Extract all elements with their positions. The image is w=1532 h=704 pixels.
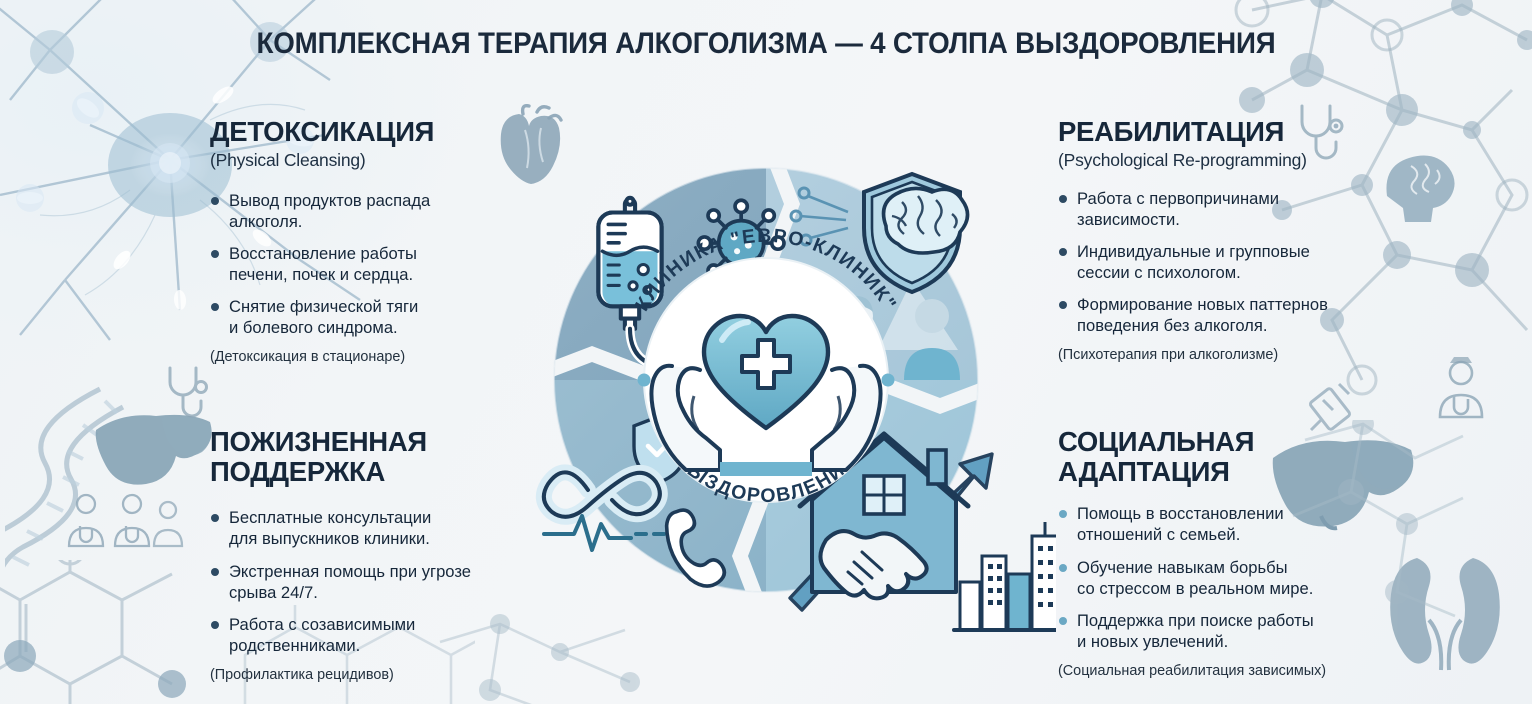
four-pillar-wheel-diagram: КЛИНИКА "ЕВРО-КЛИНИК" ВЫЗДОРОВЛЕНИЕ: [476, 84, 1056, 680]
block-detox-note: (Детоксикация в стационаре): [210, 349, 510, 365]
list-item: Помощь в восстановлении отношений с семь…: [1058, 503, 1398, 545]
block-social-adaptation: СОЦИАЛЬНАЯ АДАПТАЦИЯ Помощь в восстановл…: [1058, 427, 1398, 679]
block-rehabilitation-list: Работа с первопричинами зависимости. Инд…: [1058, 188, 1398, 336]
block-lifelong-support: ПОЖИЗНЕННАЯ ПОДДЕРЖКА Бесплатные консуль…: [210, 427, 530, 683]
block-detox: ДЕТОКСИКАЦИЯ (Physical Cleansing) Вывод …: [210, 118, 510, 365]
block-rehabilitation-heading: РЕАБИЛИТАЦИЯ: [1058, 118, 1398, 147]
list-item: Восстановление работы печени, почек и се…: [210, 243, 510, 285]
nurse-figure-icon: [60, 488, 185, 550]
list-item: Снятие физической тяги и болевого синдро…: [210, 296, 510, 338]
block-lifelong-support-heading: ПОЖИЗНЕННАЯ ПОДДЕРЖКА: [210, 427, 530, 486]
dna-helix-icon: [5, 385, 135, 595]
block-detox-list: Вывод продуктов распада алкоголя. Восста…: [210, 190, 510, 338]
block-lifelong-support-list: Бесплатные консультации для выпускников …: [210, 507, 530, 655]
list-item: Работа с первопричинами зависимости.: [1058, 188, 1398, 230]
block-social-adaptation-heading: СОЦИАЛЬНАЯ АДАПТАЦИЯ: [1058, 427, 1398, 486]
block-social-adaptation-list: Помощь в восстановлении отношений с семь…: [1058, 503, 1398, 651]
list-item: Работа с созависимыми родственниками.: [210, 614, 530, 656]
liver-icon: [92, 408, 212, 490]
list-item: Обучение навыкам борьбы со стрессом в ре…: [1058, 557, 1398, 599]
list-item: Экстренная помощь при угрозе срыва 24/7.: [210, 561, 530, 603]
block-rehabilitation-note: (Психотерапия при алкоголизме): [1058, 347, 1398, 363]
infographic-poster: КОМПЛЕКСНАЯ ТЕРАПИЯ АЛКОГОЛИЗМА — 4 СТОЛ…: [0, 0, 1532, 704]
block-rehabilitation: РЕАБИЛИТАЦИЯ (Psychological Re-programmi…: [1058, 118, 1398, 363]
hexagon-chemical-structure: [0, 560, 240, 704]
page-title: КОМПЛЕКСНАЯ ТЕРАПИЯ АЛКОГОЛИЗМА — 4 СТОЛ…: [46, 27, 1486, 61]
stethoscope-icon: [160, 363, 216, 429]
block-detox-heading: ДЕТОКСИКАЦИЯ: [210, 118, 510, 147]
list-item: Формирование новых паттернов поведения б…: [1058, 294, 1398, 336]
block-detox-subtitle: (Physical Cleansing): [210, 150, 510, 171]
doctor-figure-icon: [1430, 355, 1492, 421]
list-item: Поддержка при поиске работы и новых увле…: [1058, 610, 1398, 652]
block-lifelong-support-note: (Профилактика рецидивов): [210, 667, 530, 683]
list-item: Бесплатные консультации для выпускников …: [210, 507, 530, 549]
list-item: Вывод продуктов распада алкоголя.: [210, 190, 510, 232]
block-social-adaptation-note: (Социальная реабилитация зависимых): [1058, 663, 1398, 679]
list-item: Индивидуальные и групповые сессии с псих…: [1058, 241, 1398, 283]
block-rehabilitation-subtitle: (Psychological Re-programming): [1058, 150, 1398, 171]
